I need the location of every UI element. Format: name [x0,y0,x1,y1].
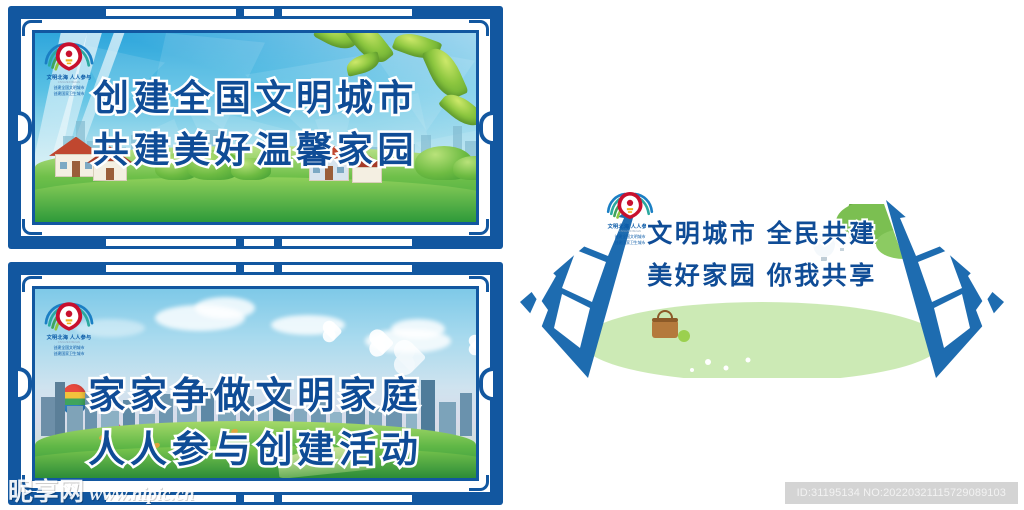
emblem-sub-2: 创建国家卫生城市 [41,351,97,356]
frame-dash [244,495,274,502]
panel-artwork: 文明北海 人人参与 CIVILIZED BEIHAI 创建全国文明城市 创建国家… [35,33,476,222]
civilization-emblem: 文明北海 人人参与 CIVILIZED BEIHAI 创建全国文明城市 创建国家… [41,299,97,356]
panel-artwork-border: 文明北海 人人参与 CIVILIZED BEIHAI 创建全国文明城市 创建国家… [32,286,479,481]
heart-icon [471,337,476,354]
frame-dash [282,239,412,246]
frame-dash [106,9,236,16]
emblem-name-en: CIVILIZED BEIHAI [41,341,97,344]
frame-dash [106,239,236,246]
frame-dash [282,265,412,272]
panel-headline-line-1: 家家争做文明家庭 [35,365,476,419]
frame-dash [106,265,236,272]
panel-artwork-border: 文明北海 人人参与 CIVILIZED BEIHAI 创建全国文明城市 创建国家… [32,30,479,225]
frame-dash [244,265,274,272]
frame-dash [282,495,412,502]
frame-dash [244,9,274,16]
fan-banner-right: 文明北海 人人参与 CIVILIZED BEIHAI 创建全国文明城市 创建国家… [512,152,1012,412]
cloud [391,319,445,339]
emblem-name-cn: 文明北海 人人参与 [41,334,97,341]
panel-artwork: 文明北海 人人参与 CIVILIZED BEIHAI 创建全国文明城市 创建国家… [35,289,476,478]
panel-headline-line-2: 共建美好温馨家园 [35,121,476,173]
fan-headline-line-1: 文明城市 全民共建 [512,214,1012,250]
emblem-icon [41,299,97,333]
site-watermark: 昵享网 www.nipic.cn [8,472,194,508]
cloud [195,297,255,319]
panel-headline-line-2: 人人参与创建活动 [35,419,476,473]
panel-headline-line-1: 创建全国文明城市 [35,69,476,121]
watermark-site-url: www.nipic.cn [90,484,195,506]
asset-id-badge: ID:31195134 NO:20220321115729089103 [785,482,1018,504]
fan-headline-line-2: 美好家园 你我共享 [512,256,1012,292]
watermark-site-name: 昵享网 [8,472,85,508]
screenshot-canvas: 文明北海 人人参与 CIVILIZED BEIHAI 创建全国文明城市 创建国家… [0,0,1024,510]
frame-dash [244,239,274,246]
banner-panel-bottom-left: 文明北海 人人参与 CIVILIZED BEIHAI 创建全国文明城市 创建国家… [8,262,503,505]
green-hill-front [35,177,476,222]
emblem-sub-1: 创建全国文明城市 [41,345,97,350]
frame-dash [282,9,412,16]
emblem-icon [41,39,97,73]
banner-panel-top-left: 文明北海 人人参与 CIVILIZED BEIHAI 创建全国文明城市 创建国家… [8,6,503,249]
